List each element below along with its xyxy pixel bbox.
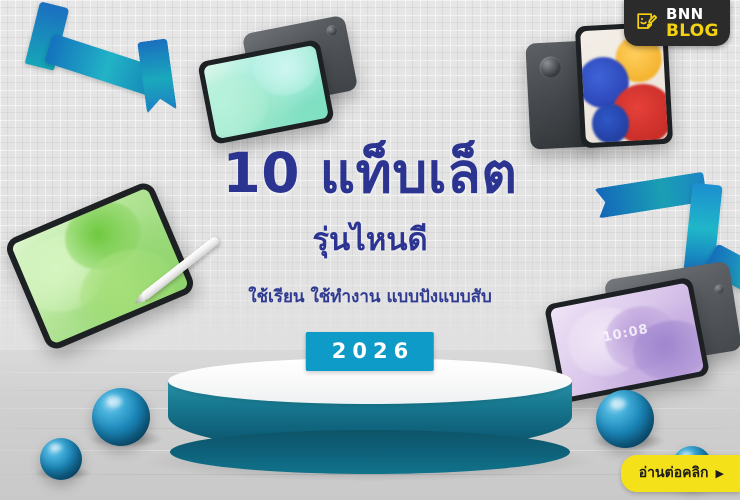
tablet-screen [197,39,335,145]
camera-lens-icon [326,24,339,37]
sphere-left-large [92,388,150,446]
play-triangle-icon: ▶ [716,467,724,480]
tablet-screen [3,180,197,353]
read-more-button[interactable]: อ่านต่อคลิก ▶ [621,455,740,492]
sphere-left-small [40,438,82,480]
logo-name-bottom: BLOG [666,23,719,40]
page-subtitle: รุ่นไหนดี [0,225,740,256]
tablet-top-left [196,22,346,142]
brand-logo[interactable]: BNN BLOG [624,0,730,46]
logo-name-top: BNN [666,7,719,22]
note-pencil-smiley-icon [635,11,659,35]
camera-lens-icon [539,56,562,79]
ribbon-top-left [22,2,197,110]
read-more-label: อ่านต่อคลิก [639,462,709,484]
sphere-right-large [596,390,654,448]
podium [168,358,572,468]
tablet-left-stylus [6,198,236,368]
page-title: 10 แท็บเล็ต [0,146,740,201]
tagline: ใช้เรียน ใช้ทำงาน แบบปังแบบสับ [0,289,740,306]
promo-banner: 10:08 10 แท็บเล็ต รุ่นไหนดี ใช้เรียน ใช้… [0,0,740,500]
year-badge: 2026 [306,332,434,371]
tablet-bottom-right: 10:08 [552,268,740,398]
